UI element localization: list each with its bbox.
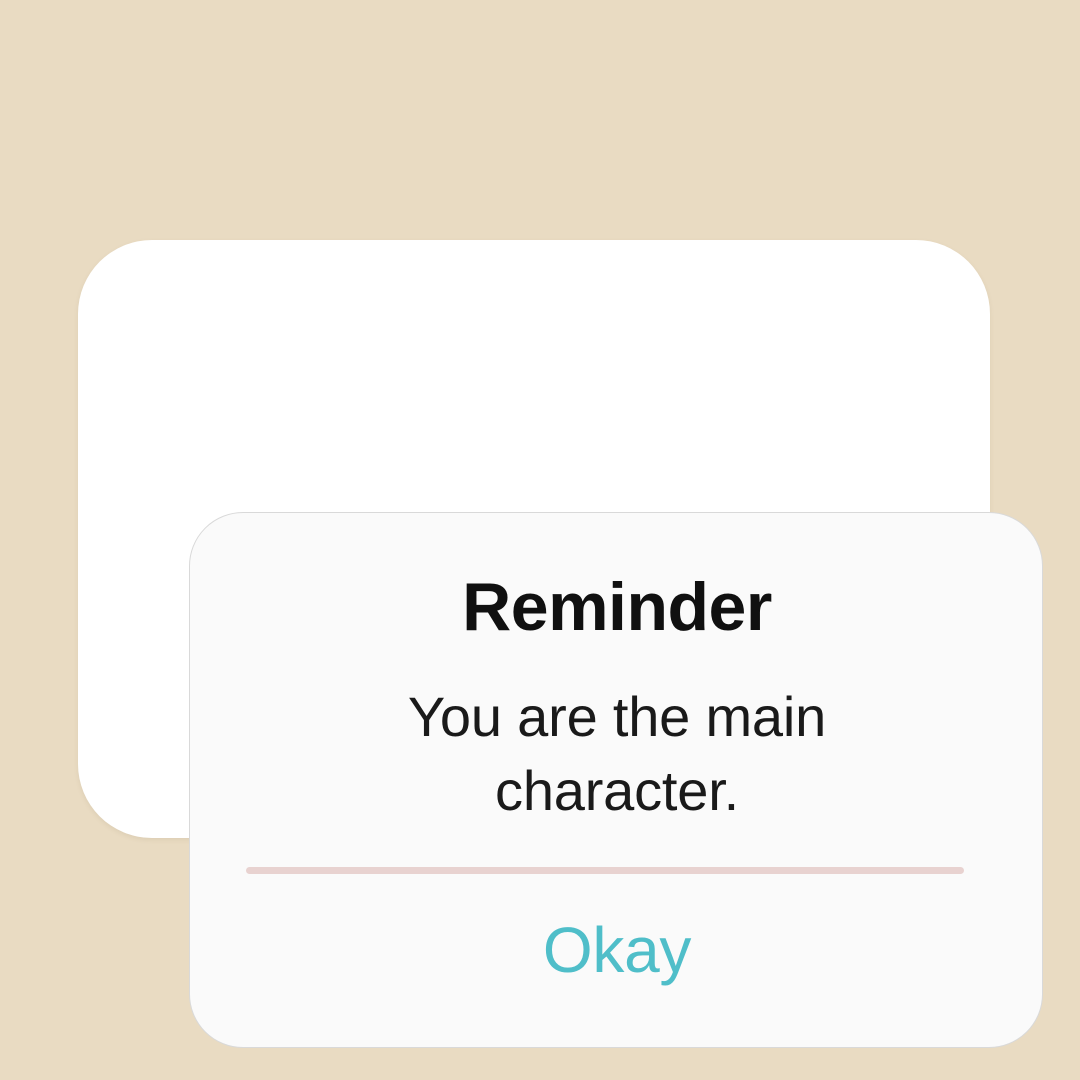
dialog-action-row: Okay — [190, 911, 1043, 989]
sticker-outline: Reminder You are the main character. Oka… — [78, 240, 990, 838]
dialog-message: You are the main character. — [287, 680, 947, 828]
dialog-title: Reminder — [190, 566, 1043, 648]
reminder-dialog: Reminder You are the main character. Oka… — [189, 512, 1043, 1048]
dialog-divider — [246, 867, 964, 874]
okay-button[interactable]: Okay — [529, 911, 705, 989]
poster-canvas: Reminder You are the main character. Oka… — [0, 0, 1080, 1080]
